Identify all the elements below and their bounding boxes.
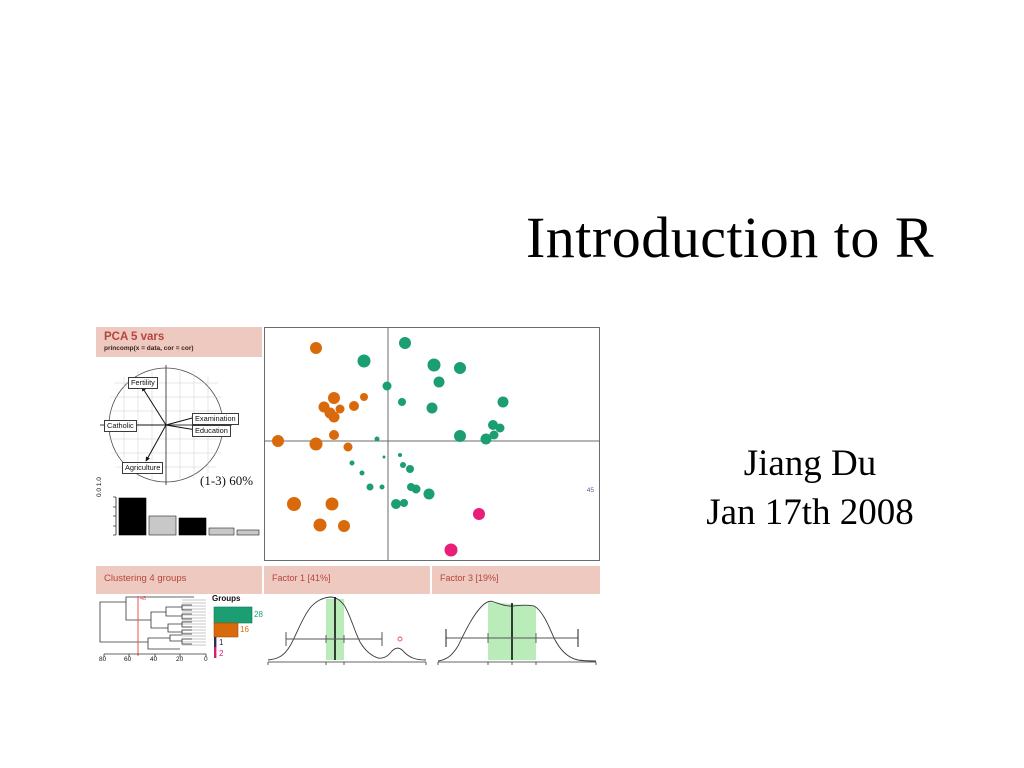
factor3-density-panel: [432, 594, 600, 668]
factor1-panel-header: Factor 1 [41%]: [264, 566, 430, 594]
author-name: Jiang Du: [640, 440, 980, 489]
scatter-point-id-label: 45: [587, 487, 594, 494]
group-count-4: 2: [219, 649, 223, 658]
pca-panel-title: PCA 5 vars: [104, 331, 164, 343]
pca-clustering-figure: PCA 5 vars princomp(x = data, cor = cor)…: [96, 327, 600, 668]
group-count-3: 1: [219, 638, 223, 647]
factor1-density-panel: [264, 594, 430, 668]
scatter-graphic: [264, 327, 600, 561]
factor1-density-graphic: [264, 594, 430, 668]
groups-legend-title: Groups: [212, 594, 240, 603]
pca-biplot-panel: Fertility Catholic Examination Education…: [96, 357, 262, 566]
biplot-label-catholic: Catholic: [104, 420, 137, 432]
dendro-tick-0: 0: [204, 656, 208, 663]
dendro-tick-20: 20: [176, 656, 183, 663]
factor3-panel-title: Factor 3 [19%]: [440, 573, 499, 583]
clustering-panel-title: Clustering 4 groups: [104, 573, 186, 584]
dendro-tick-60: 60: [124, 656, 131, 663]
dendrogram-cut-value: 48: [140, 596, 146, 602]
biplot-label-education: Education: [192, 425, 231, 437]
factor3-density-graphic: [432, 594, 600, 668]
page-title: Introduction to R: [500, 204, 960, 271]
clustering-panel-header: Clustering 4 groups: [96, 566, 262, 594]
factor-scatter-panel: 45: [264, 327, 600, 561]
dendro-tick-40: 40: [150, 656, 157, 663]
pca-panel-subtitle: princomp(x = data, cor = cor): [104, 345, 194, 352]
pca-panel-header: PCA 5 vars princomp(x = data, cor = cor): [96, 327, 262, 357]
scree-plot: [113, 497, 259, 535]
biplot-graphic: [96, 357, 262, 566]
presentation-date: Jan 17th 2008: [640, 489, 980, 538]
dendro-tick-80: 80: [99, 656, 106, 663]
group-count-1: 28: [254, 610, 263, 619]
group-count-2: 16: [240, 625, 249, 634]
dendrogram-panel: 48 80 60 40 20 0 Groups 28 16: [96, 594, 262, 668]
biplot-label-examination: Examination: [192, 413, 239, 425]
biplot-label-fertility: Fertility: [128, 377, 158, 389]
biplot-label-agriculture: Agriculture: [122, 462, 163, 474]
factor3-panel-header: Factor 3 [19%]: [432, 566, 600, 594]
factor1-panel-title: Factor 1 [41%]: [272, 573, 331, 583]
variance-explained-label: (1-3) 60%: [200, 473, 253, 489]
author-block: Jiang Du Jan 17th 2008: [640, 440, 980, 538]
scree-axis-label: 0.0 1.0: [96, 477, 103, 497]
